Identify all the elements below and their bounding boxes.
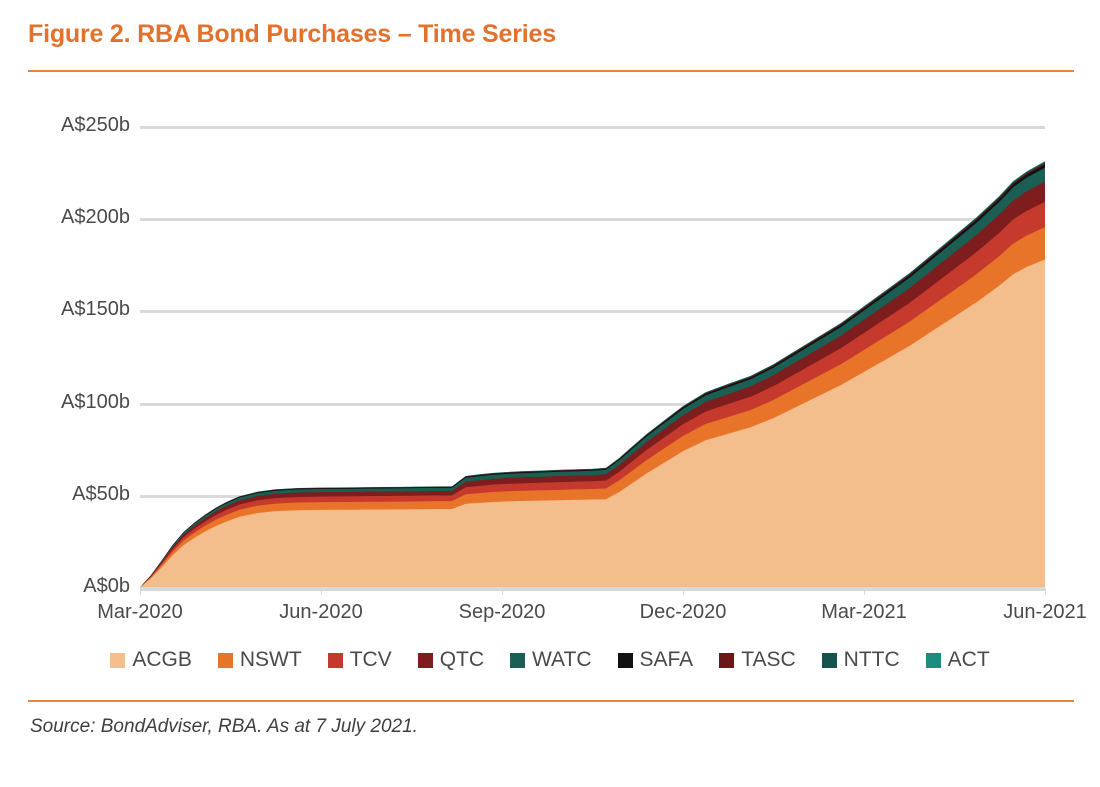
x-axis-tickmark [683, 588, 684, 595]
source-divider [28, 700, 1074, 702]
legend-swatch-icon [110, 653, 125, 668]
legend-label: ACT [948, 648, 990, 672]
x-axis-tick-label: Mar-2020 [97, 601, 183, 624]
y-axis-tick-label: A$0b [10, 575, 130, 598]
x-axis-tickmark [321, 588, 322, 595]
y-axis-tick-label: A$250b [10, 114, 130, 137]
x-axis-tick-label: Jun-2020 [279, 601, 362, 624]
x-axis-tick-label: Jun-2021 [1003, 601, 1086, 624]
legend-label: TCV [350, 648, 392, 672]
chart-legend: ACGBNSWTTCVQTCWATCSAFATASCNTTCACT [0, 648, 1100, 672]
x-axis-tickmark [140, 588, 141, 595]
legend-swatch-icon [328, 653, 343, 668]
x-axis-tick-label: Dec-2020 [640, 601, 727, 624]
y-axis-tick-label: A$150b [10, 298, 130, 321]
figure-page: Figure 2. RBA Bond Purchases – Time Seri… [0, 0, 1100, 787]
legend-item-act[interactable]: ACT [926, 648, 990, 672]
legend-item-nttc[interactable]: NTTC [822, 648, 900, 672]
legend-item-safa[interactable]: SAFA [618, 648, 694, 672]
chart-plot-area [140, 127, 1045, 588]
legend-swatch-icon [719, 653, 734, 668]
legend-label: QTC [440, 648, 484, 672]
x-axis-tickmark [864, 588, 865, 595]
legend-swatch-icon [926, 653, 941, 668]
title-divider [28, 70, 1074, 72]
y-axis-tick-label: A$100b [10, 391, 130, 414]
legend-item-tcv[interactable]: TCV [328, 648, 392, 672]
chart-baseline [140, 587, 1045, 591]
legend-swatch-icon [218, 653, 233, 668]
x-axis-tick-label: Mar-2021 [821, 601, 907, 624]
legend-label: NSWT [240, 648, 302, 672]
legend-item-qtc[interactable]: QTC [418, 648, 484, 672]
y-axis-tick-label: A$50b [10, 483, 130, 506]
y-axis-tick-label: A$200b [10, 206, 130, 229]
legend-swatch-icon [510, 653, 525, 668]
legend-item-tasc[interactable]: TASC [719, 648, 795, 672]
stacked-area-series [140, 127, 1045, 588]
legend-swatch-icon [418, 653, 433, 668]
legend-item-acgb[interactable]: ACGB [110, 648, 192, 672]
source-note: Source: BondAdviser, RBA. As at 7 July 2… [30, 716, 418, 738]
page-title: Figure 2. RBA Bond Purchases – Time Seri… [28, 20, 556, 49]
legend-item-watc[interactable]: WATC [510, 648, 591, 672]
legend-swatch-icon [822, 653, 837, 668]
legend-label: NTTC [844, 648, 900, 672]
legend-label: SAFA [640, 648, 694, 672]
legend-swatch-icon [618, 653, 633, 668]
x-axis-tick-label: Sep-2020 [459, 601, 546, 624]
x-axis-tickmark [502, 588, 503, 595]
legend-item-nswt[interactable]: NSWT [218, 648, 302, 672]
x-axis-tickmark [1045, 588, 1046, 595]
chart-container: A$0bA$50bA$100bA$150bA$200bA$250b Mar-20… [0, 96, 1100, 656]
legend-label: WATC [532, 648, 591, 672]
legend-label: ACGB [132, 648, 192, 672]
legend-label: TASC [741, 648, 795, 672]
